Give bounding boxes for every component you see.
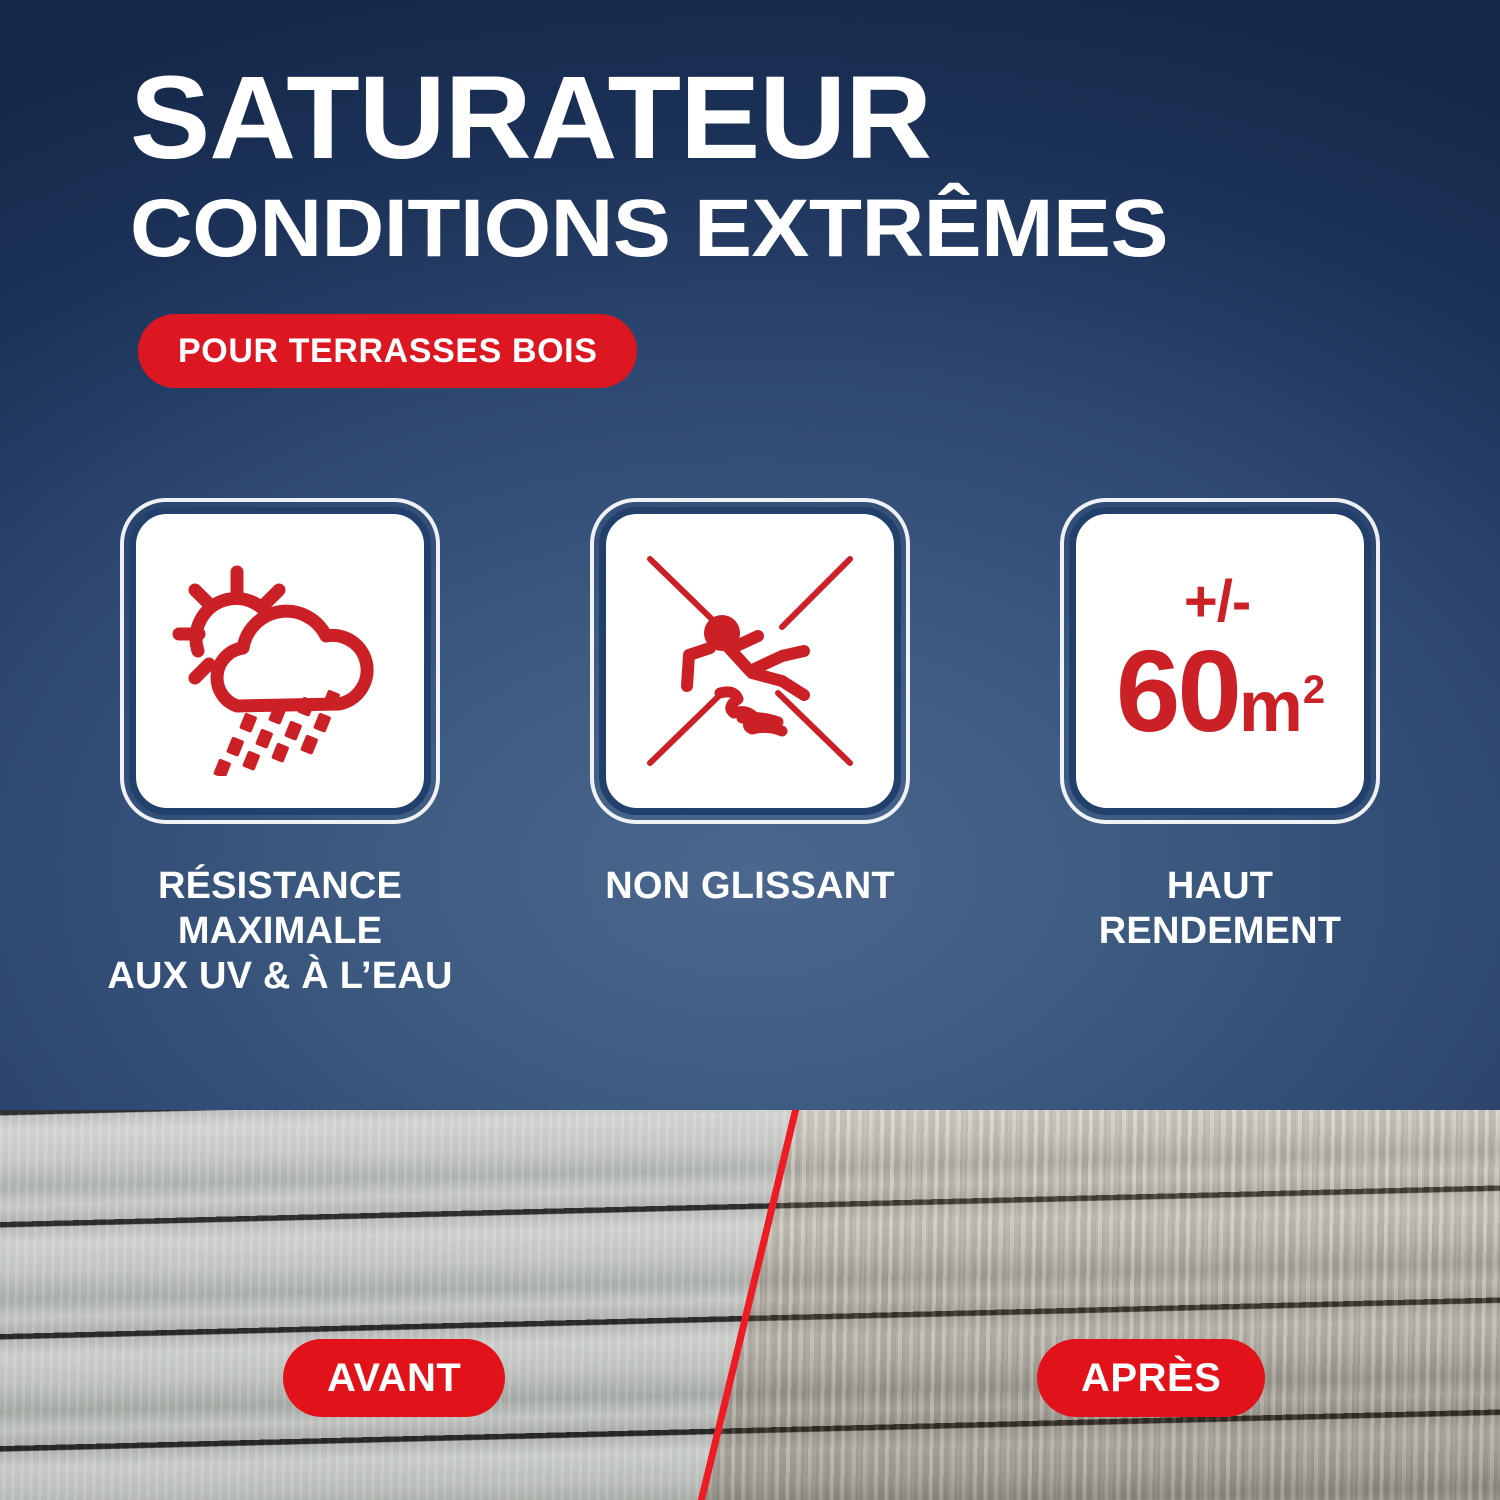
icon-card-inner [599,507,901,815]
before-badge: AVANT [283,1339,505,1417]
after-badge: APRÈS [1037,1339,1265,1417]
cloud-shape [217,611,367,706]
area-superscript: 2 [1303,670,1325,710]
plus-minus-label: +/- [1184,573,1250,631]
icon-card-non-slip [590,498,910,824]
icon-card-resistance [120,498,440,824]
slip-squiggle-2 [742,718,778,723]
feature-caption: HAUT RENDEMENT [1010,864,1430,954]
tagline-badge: POUR TERRASSES BOIS [138,314,637,388]
area-unit: m [1239,671,1302,743]
before-after-comparison [0,1110,1500,1500]
feature-caption: RÉSISTANCE MAXIMALE AUX UV & À L’EAU [70,864,490,998]
page-title: SATURATEUR [130,62,1436,175]
feature-caption: NON GLISSANT [540,864,960,909]
top-blue-panel: SATURATEUR CONDITIONS EXTRÊMES POUR TERR… [0,0,1500,1112]
feature-list: RÉSISTANCE MAXIMALE AUX UV & À L’EAU [0,498,1500,998]
product-infographic: SATURATEUR CONDITIONS EXTRÊMES POUR TERR… [0,0,1500,1500]
icon-card-inner [129,507,431,815]
feature-non-slip: NON GLISSANT [590,498,910,998]
page-subtitle: CONDITIONS EXTRÊMES [130,189,1487,269]
icon-card-coverage: +/- 60 m 2 [1060,498,1380,824]
feature-coverage: +/- 60 m 2 HAUT RENDEMENT [1060,498,1380,998]
icon-card-inner: +/- 60 m 2 [1069,507,1371,815]
title-block: SATURATEUR CONDITIONS EXTRÊMES [130,62,1410,270]
no-slip-person-icon [632,543,868,779]
area-number: 60 [1116,633,1239,749]
area-value-row: 60 m 2 [1116,633,1324,749]
sun-cloud-rain-icon [165,546,395,776]
coverage-area-icon: +/- 60 m 2 [1116,573,1324,749]
feature-resistance: RÉSISTANCE MAXIMALE AUX UV & À L’EAU [120,498,440,998]
